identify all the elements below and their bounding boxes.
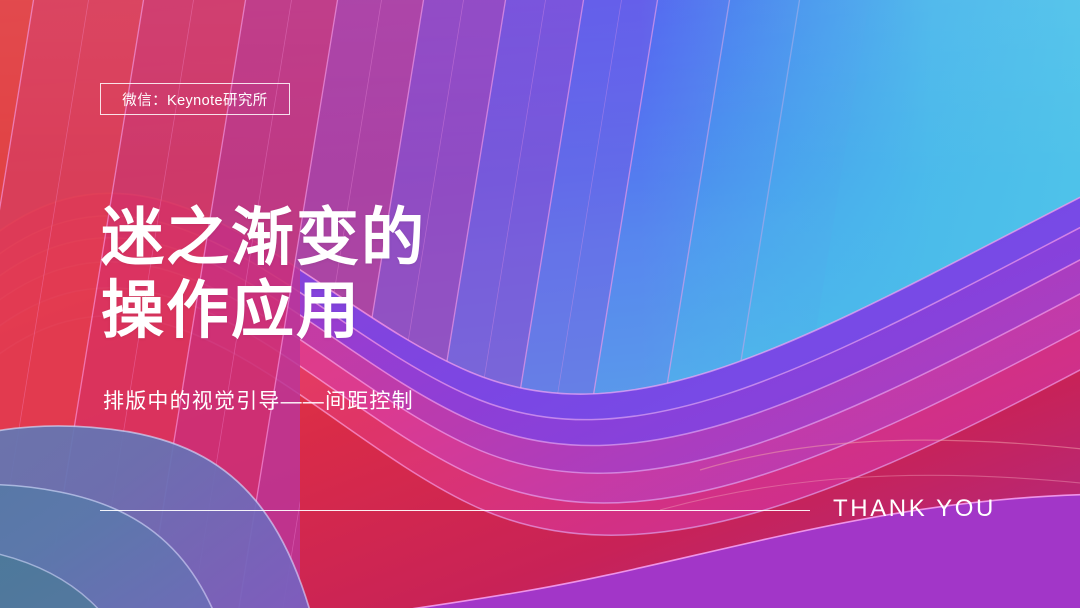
wechat-handle-badge: 微信：Keynote研究所 <box>100 83 290 115</box>
page-title: 迷之渐变的 操作应用 <box>101 202 426 348</box>
title-slide: 微信：Keynote研究所 迷之渐变的 操作应用 排版中的视觉引导——间距控制 … <box>0 0 1080 608</box>
page-title-line-1: 迷之渐变的 <box>101 202 426 275</box>
page-subtitle: 排版中的视觉引导——间距控制 <box>103 385 414 415</box>
wechat-handle-text: 微信：Keynote研究所 <box>122 89 267 110</box>
footer-divider-line <box>100 510 810 511</box>
page-title-line-2: 操作应用 <box>101 275 426 348</box>
thank-you-text: THANK YOU <box>833 495 996 523</box>
